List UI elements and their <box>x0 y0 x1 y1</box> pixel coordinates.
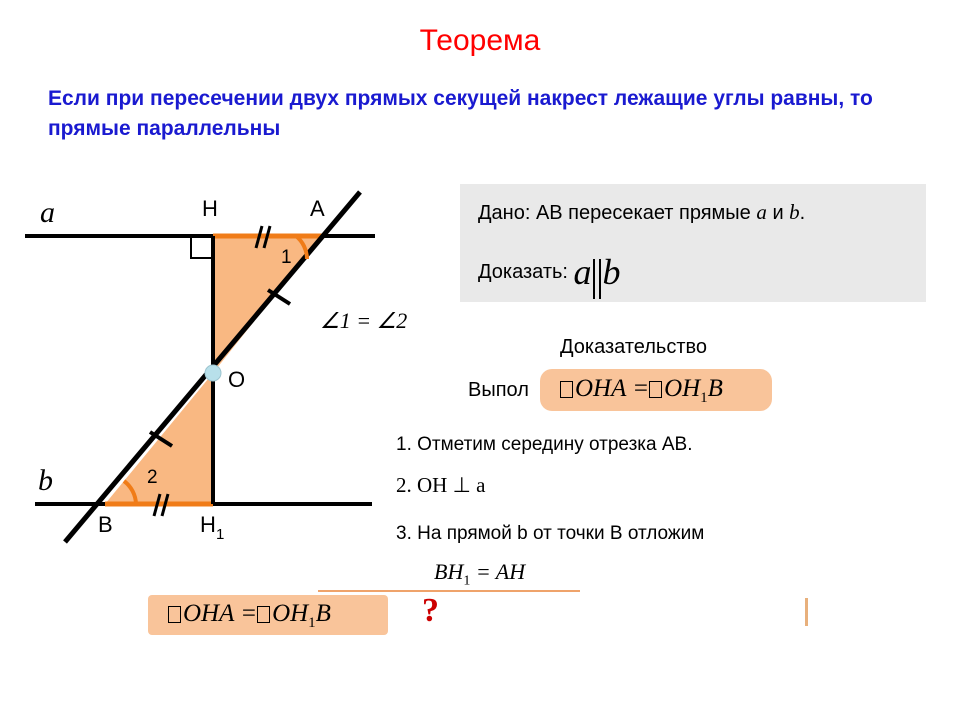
theorem-statement: Если при пересечении двух прямых секущей… <box>48 84 918 144</box>
right-angle-marker <box>191 236 213 258</box>
proof-heading: Доказательство <box>560 336 707 359</box>
proof-step-3: 3. На прямой b от точки B отложим <box>396 523 704 545</box>
perform-word: Выпол <box>468 379 529 402</box>
given-prefix-text: Дано: AB пересекает прямые <box>478 202 751 224</box>
triangle-icon-1 <box>560 381 573 398</box>
geometry-diagram: a b H A O B H 1 1 2 ∠1 = ∠2 <box>0 170 450 570</box>
label-line-a: a <box>40 196 55 229</box>
proof-step-2: 2. OH ⊥ a <box>396 473 485 498</box>
diagram-svg: a b H A O B H 1 1 2 ∠1 = ∠2 <box>0 170 450 570</box>
proof-step-1: 1. Отметим середину отрезка AB. <box>396 434 693 456</box>
congruence-lower-equals: = <box>240 600 257 627</box>
right-margin-tick <box>805 598 808 626</box>
congruence-highlight-box-lower: OHA =OH1B <box>148 595 388 635</box>
label-line-b: b <box>38 464 53 497</box>
triangle-icon-2 <box>649 381 662 398</box>
slide-root: Теорема Если при пересечении двух прямых… <box>0 0 960 720</box>
angle-equality-note: ∠1 = ∠2 <box>320 308 407 333</box>
step3-formula-pre: BH <box>434 559 463 584</box>
step3-formula-post: = AH <box>470 559 525 584</box>
prove-prefix-text: Доказать: <box>478 261 568 283</box>
parallel-icon <box>592 259 603 299</box>
congruence-part2-sub: 1 <box>700 390 708 406</box>
label-point-h1-subscript: 1 <box>216 526 224 543</box>
congruence-lower-part1: OHA <box>183 600 234 627</box>
given-conjunction: и <box>772 202 783 224</box>
congruence-equals: = <box>632 375 649 402</box>
page-title: Теорема <box>0 24 960 58</box>
triangle-icon-4 <box>257 606 270 623</box>
congruence-formula-lower: OHA =OH1B <box>168 600 331 632</box>
congruence-lower-part2-post: B <box>316 600 331 627</box>
given-line-b-symbol: b <box>789 200 800 224</box>
label-angle-2: 2 <box>147 467 158 488</box>
label-angle-1: 1 <box>281 247 292 268</box>
given-line-a-symbol: a <box>756 200 767 224</box>
given-statement: Дано: AB пересекает прямые a и b. <box>478 200 805 225</box>
point-o-marker <box>205 365 221 381</box>
question-mark: ? <box>422 592 439 630</box>
given-period: . <box>800 202 806 224</box>
congruence-lower-part2-pre: OH <box>272 600 308 627</box>
prove-line-b-symbol: b <box>603 252 621 292</box>
label-point-o: O <box>228 367 245 392</box>
label-point-h: H <box>202 196 218 221</box>
label-point-a: A <box>310 196 325 221</box>
congruence-part1: OHA <box>575 375 626 402</box>
prove-statement: Доказать: ab <box>478 252 621 293</box>
congruence-formula-upper: OHA =OH1B <box>560 375 723 407</box>
label-point-h1: H <box>200 512 216 537</box>
label-point-b: B <box>98 512 113 537</box>
orange-divider-rule <box>318 590 580 592</box>
congruence-part2-pre: OH <box>664 375 700 402</box>
given-prove-panel: Дано: AB пересекает прямые a и b. Доказа… <box>460 184 926 302</box>
triangle-icon-3 <box>168 606 181 623</box>
congruence-highlight-box-upper: OHA =OH1B <box>540 369 772 411</box>
proof-step-3-formula: BH1 = AH <box>434 559 525 589</box>
prove-line-a-symbol: a <box>574 252 592 292</box>
congruence-part2-post: B <box>708 375 723 402</box>
congruence-lower-part2-sub: 1 <box>308 615 316 631</box>
